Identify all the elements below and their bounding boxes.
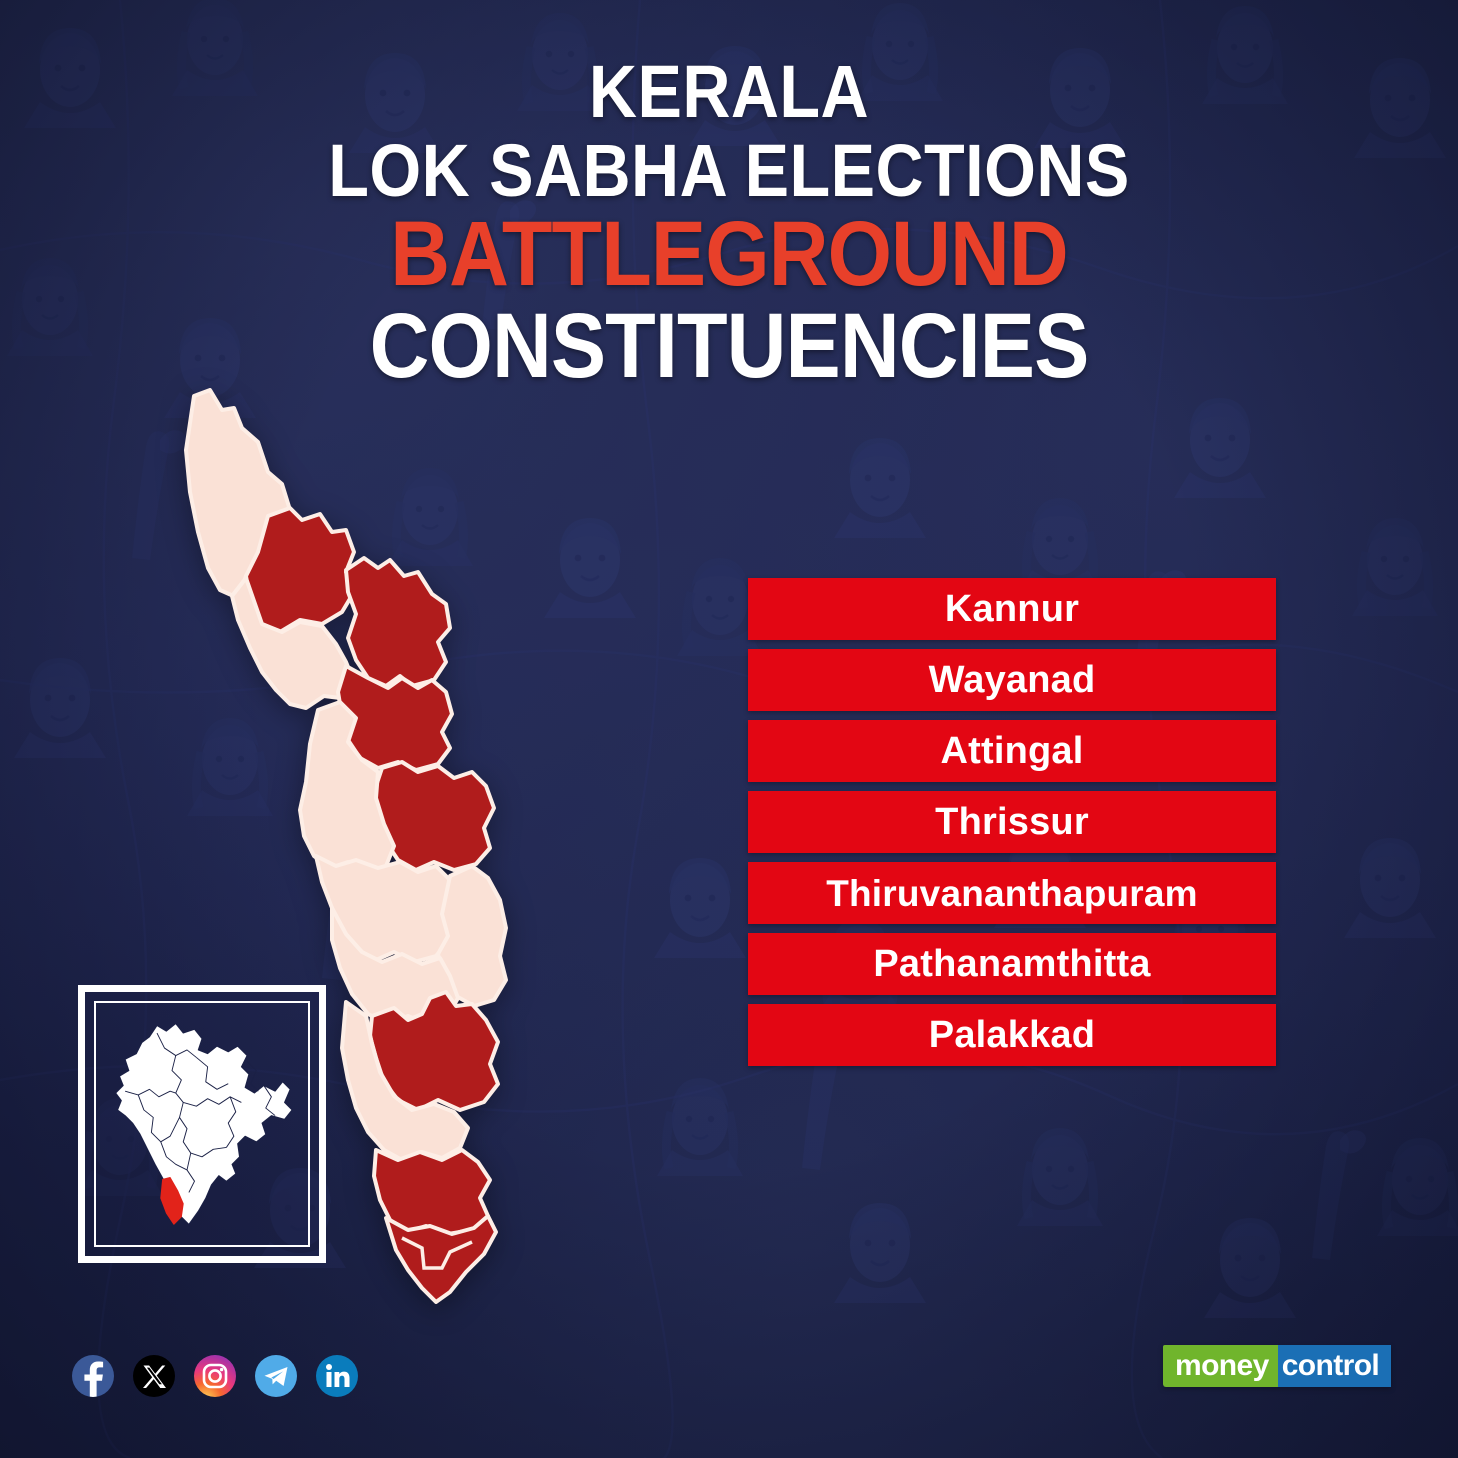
constituency-label: Thiruvananthapuram: [826, 875, 1198, 912]
infographic-poster: KERALA LOK SABHA ELECTIONS BATTLEGROUND …: [0, 0, 1458, 1458]
page-title: KERALA LOK SABHA ELECTIONS BATTLEGROUND …: [0, 56, 1458, 391]
moneycontrol-logo: money control: [1163, 1345, 1391, 1387]
constituency-item-palakkad[interactable]: Palakkad: [748, 1004, 1276, 1066]
constituency-label: Kannur: [945, 590, 1079, 628]
linkedin-icon[interactable]: [316, 1355, 358, 1397]
facebook-icon[interactable]: [72, 1355, 114, 1397]
constituency-item-pathanamthitta[interactable]: Pathanamthitta: [748, 933, 1276, 995]
headline-line-3-battleground: BATTLEGROUND: [73, 209, 1385, 299]
headline-line-4-constituencies: CONSTITUENCIES: [73, 301, 1385, 391]
logo-control-part: control: [1278, 1345, 1391, 1387]
constituency-item-thiruvananthapuram[interactable]: Thiruvananthapuram: [748, 862, 1276, 924]
logo-control-text: control: [1282, 1351, 1379, 1381]
constituency-label: Attingal: [940, 732, 1083, 770]
constituency-item-wayanad[interactable]: Wayanad: [748, 649, 1276, 711]
constituency-label: Pathanamthitta: [873, 945, 1150, 983]
constituency-list: Kannur Wayanad Attingal Thrissur Thiruva…: [748, 578, 1276, 1066]
social-links: [72, 1355, 358, 1397]
map-district-wayanad: [346, 558, 450, 686]
constituency-label: Wayanad: [929, 661, 1096, 699]
constituency-item-thrissur[interactable]: Thrissur: [748, 791, 1276, 853]
instagram-icon[interactable]: [194, 1355, 236, 1397]
telegram-icon[interactable]: [255, 1355, 297, 1397]
x-twitter-icon[interactable]: [133, 1355, 175, 1397]
map-district-thiruvananthapuram: [386, 1216, 496, 1302]
constituency-label: Thrissur: [935, 803, 1089, 841]
constituency-item-attingal[interactable]: Attingal: [748, 720, 1276, 782]
logo-money-text: money: [1175, 1351, 1269, 1381]
logo-money-part: money: [1163, 1345, 1278, 1387]
india-inset-map: [78, 985, 326, 1263]
headline-line-1: KERALA: [73, 56, 1385, 129]
india-outline: [116, 1024, 292, 1225]
constituency-label: Palakkad: [929, 1016, 1095, 1054]
headline-line-2: LOK SABHA ELECTIONS: [73, 135, 1385, 208]
constituency-item-kannur[interactable]: Kannur: [748, 578, 1276, 640]
